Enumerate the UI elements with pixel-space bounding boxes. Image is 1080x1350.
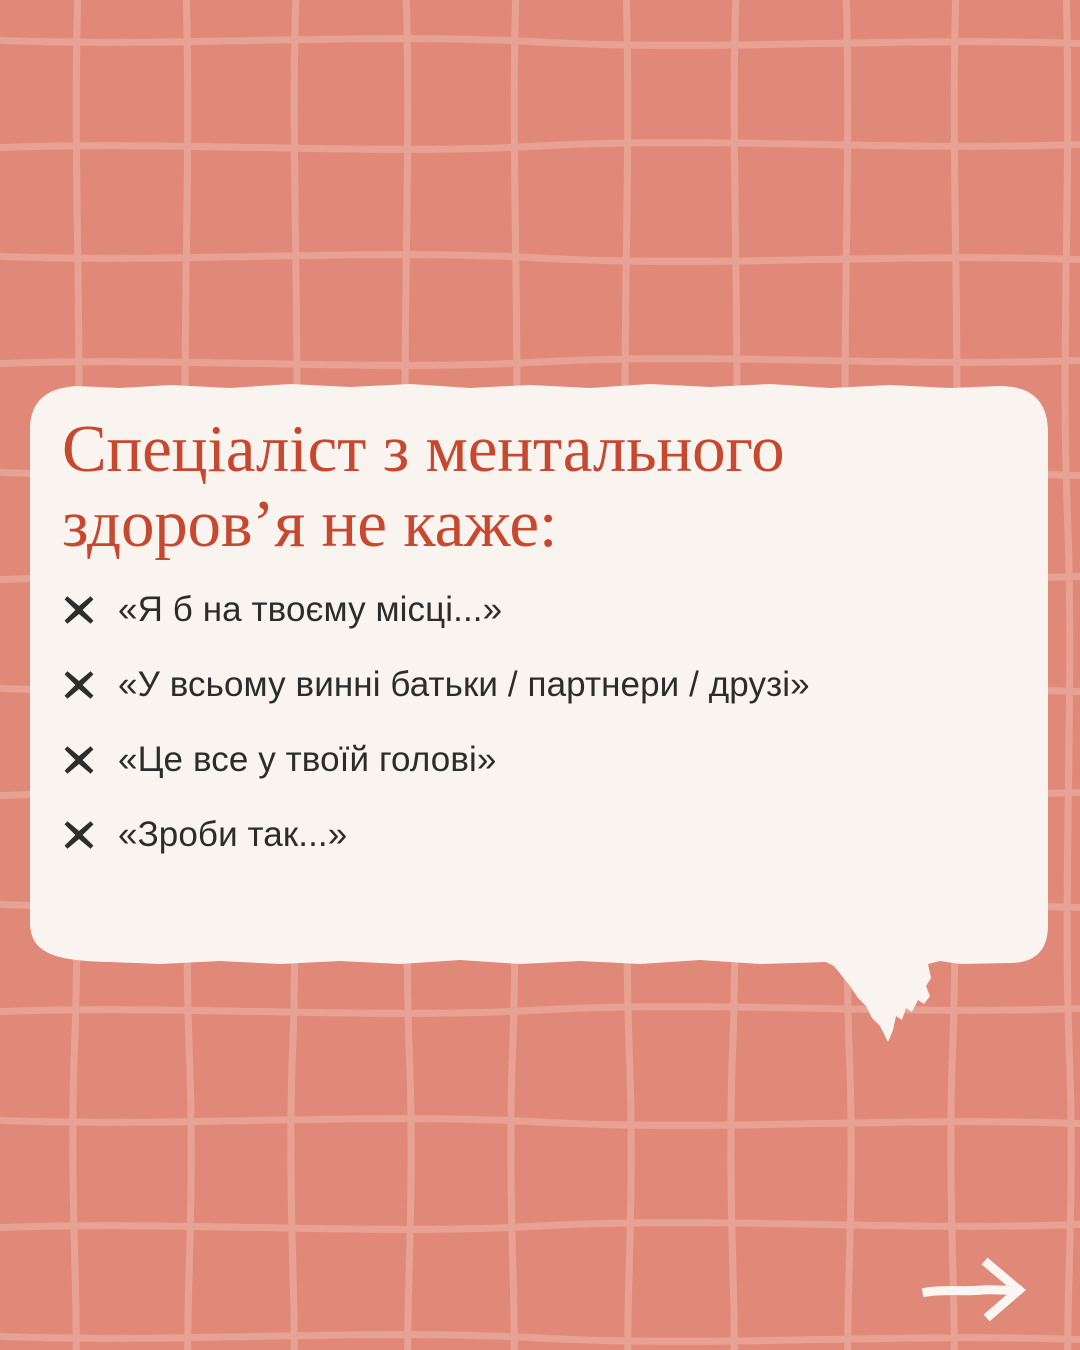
list-item: «Зроби так...» <box>62 813 1022 857</box>
arrow-right-icon[interactable] <box>920 1252 1032 1322</box>
cross-icon <box>62 593 96 627</box>
list-item-label: «Зроби так...» <box>118 815 347 855</box>
card-content: Спеціаліст з ментального здоров’я не каж… <box>62 412 1022 857</box>
cross-icon <box>62 818 96 852</box>
page-title: Спеціаліст з ментального здоров’я не каж… <box>62 412 1012 562</box>
list-item: «Я б на твоєму місці...» <box>62 588 1022 632</box>
list-item: «Це все у твоїй голові» <box>62 738 1022 782</box>
statement-list: «Я б на твоєму місці...» «У всьому винні… <box>62 588 1022 857</box>
list-item-label: «Це все у твоїй голові» <box>118 740 496 780</box>
list-item: «У всьому винні батьки / партнери / друз… <box>62 663 1022 707</box>
cross-icon <box>62 743 96 777</box>
cross-icon <box>62 668 96 702</box>
slide-canvas: Спеціаліст з ментального здоров’я не каж… <box>0 0 1080 1350</box>
list-item-label: «Я б на твоєму місці...» <box>118 590 502 630</box>
list-item-label: «У всьому винні батьки / партнери / друз… <box>118 665 810 705</box>
